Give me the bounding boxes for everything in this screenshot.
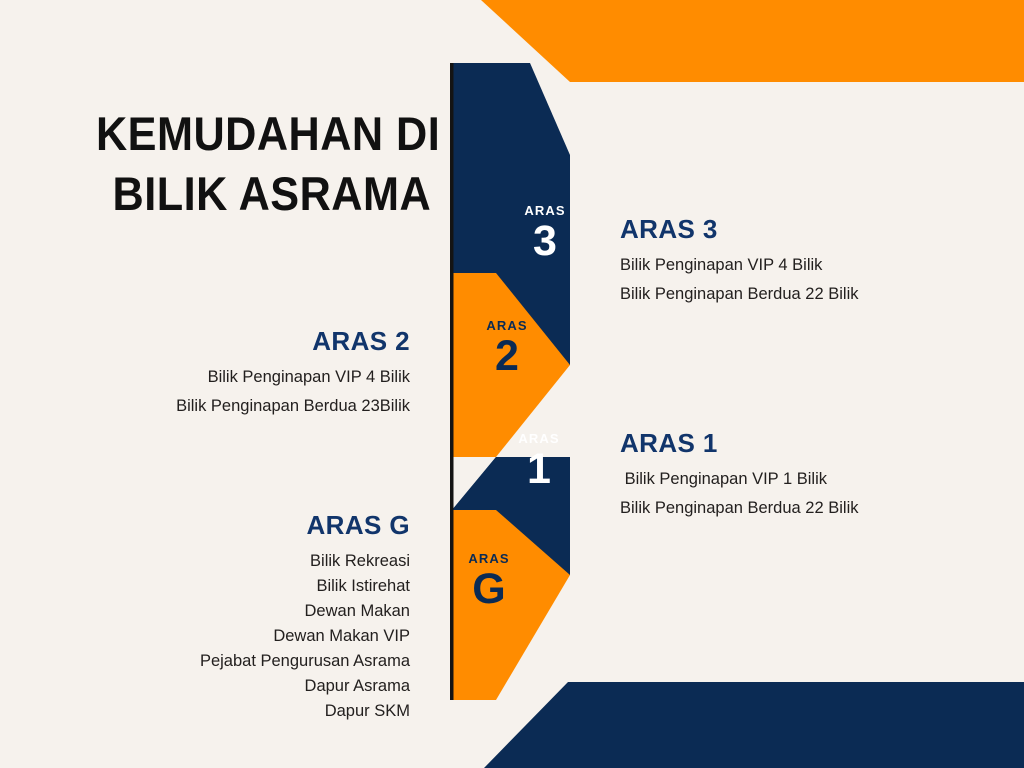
info-item-aras-g-4: Pejabat Pengurusan Asrama — [80, 651, 410, 671]
info-block-aras-3: ARAS 3 Bilik Penginapan VIP 4 Bilik Bili… — [620, 214, 950, 304]
page-title-line-1: KEMUDAHAN DI — [96, 104, 400, 164]
page-title-line-2: BILIK ASRAMA — [96, 164, 400, 224]
info-block-aras-1: ARAS 1 Bilik Penginapan VIP 1 Bilik Bili… — [620, 428, 950, 518]
info-heading-aras-3: ARAS 3 — [620, 214, 950, 245]
info-heading-aras-1: ARAS 1 — [620, 428, 950, 459]
info-item-aras-g-6: Dapur SKM — [80, 701, 410, 721]
info-item-aras-g-0: Bilik Rekreasi — [80, 551, 410, 571]
info-item-aras-g-5: Dapur Asrama — [80, 676, 410, 696]
info-item-aras-2-1: Bilik Penginapan Berdua 23Bilik — [100, 396, 410, 416]
info-item-aras-2-0: Bilik Penginapan VIP 4 Bilik — [100, 367, 410, 387]
info-heading-aras-g: ARAS G — [80, 510, 410, 541]
ribbon-shapes — [440, 55, 600, 715]
info-block-aras-g: ARAS G Bilik Rekreasi Bilik Istirehat De… — [80, 510, 410, 726]
info-item-aras-g-2: Dewan Makan — [80, 601, 410, 621]
ribbon-left-rule — [450, 63, 454, 700]
level-ribbon: ARAS 3 ARAS 2 ARAS 1 ARAS G — [440, 55, 600, 715]
info-item-aras-3-0: Bilik Penginapan VIP 4 Bilik — [620, 255, 950, 275]
page-title: KEMUDAHAN DI BILIK ASRAMA — [96, 104, 426, 224]
info-item-aras-g-1: Bilik Istirehat — [80, 576, 410, 596]
infographic-canvas: KEMUDAHAN DI BILIK ASRAMA ARAS 3 ARAS 2 — [0, 0, 1024, 768]
info-block-aras-2: ARAS 2 Bilik Penginapan VIP 4 Bilik Bili… — [100, 326, 410, 416]
info-item-aras-3-1: Bilik Penginapan Berdua 22 Bilik — [620, 284, 950, 304]
info-item-aras-g-3: Dewan Makan VIP — [80, 626, 410, 646]
info-item-aras-1-1: Bilik Penginapan Berdua 22 Bilik — [620, 498, 950, 518]
info-heading-aras-2: ARAS 2 — [100, 326, 410, 357]
info-item-aras-1-0: Bilik Penginapan VIP 1 Bilik — [620, 469, 950, 489]
